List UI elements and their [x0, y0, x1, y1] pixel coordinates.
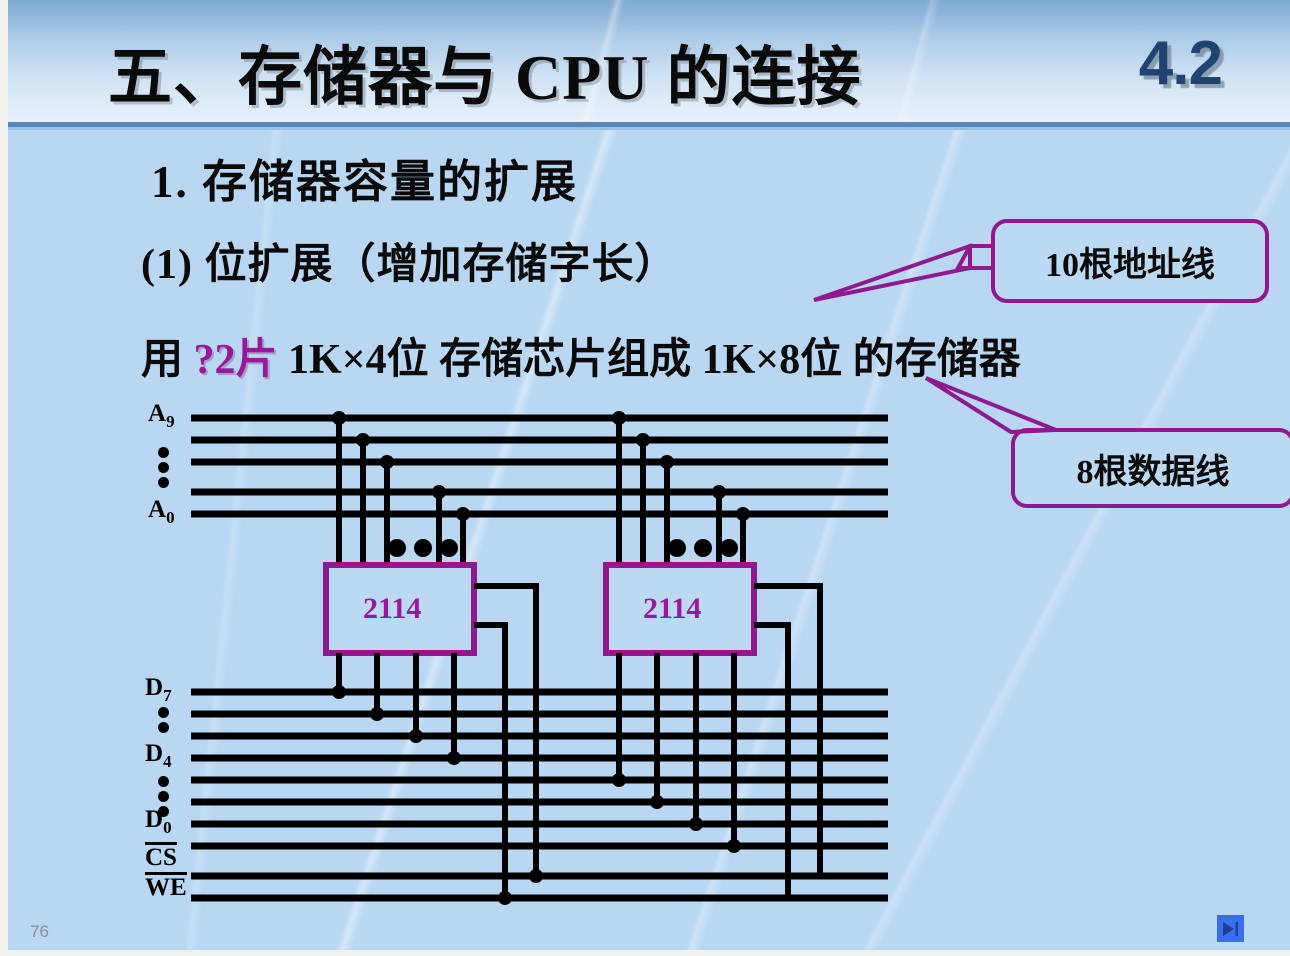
callout-address-lines: 10根地址线	[991, 219, 1269, 303]
callout-2-tail	[926, 378, 1056, 432]
chip-label-2: 2114	[643, 592, 701, 626]
slide-canvas: 五、存储器与 CPU 的连接 4.2 1. 存储器容量的扩展 (1) 位扩展（增…	[8, 0, 1290, 950]
statement-rest: 1K×4位 存储芯片组成 1K×8位 的存储器	[288, 337, 1021, 383]
statement-prefix: 用	[141, 337, 183, 383]
cs-junction-chip1	[529, 869, 543, 883]
header-rule-secondary	[8, 127, 1290, 130]
pin-label-we-text: WE	[145, 872, 187, 901]
pin-label-d4: D4	[145, 740, 172, 772]
data-ellipsis-upper	[158, 707, 169, 733]
we-junction-chip1	[498, 891, 512, 905]
addr-junctions-chip1	[332, 411, 470, 521]
control-wire-cs-chip2	[536, 586, 820, 876]
section-number: 4.2	[1139, 28, 1222, 99]
pin-label-a9: A9	[148, 400, 175, 432]
data-junctions-chip1	[332, 685, 461, 765]
control-wire-we-chip1	[474, 625, 505, 898]
pin-label-d7: D7	[145, 674, 172, 706]
chip-label-1: 2114	[363, 592, 421, 626]
callout-1-notch	[958, 246, 991, 268]
page-title: 五、存储器与 CPU 的连接	[108, 26, 862, 118]
addr-junctions-chip2	[612, 411, 750, 521]
callout-data-lines: 8根数据线	[1011, 428, 1290, 508]
statement-highlight: ?2片	[194, 337, 278, 383]
pin-label-cs-text: CS	[145, 842, 177, 871]
control-wire-we-chip2	[505, 625, 788, 898]
callout-1-tail	[814, 246, 970, 300]
addr-ellipsis-chip2	[668, 539, 738, 557]
next-slide-icon[interactable]	[1217, 915, 1244, 942]
callout-data-lines-label: 8根数据线	[1077, 444, 1230, 493]
pin-label-cs: CS	[145, 842, 177, 872]
pin-label-a0: A0	[148, 496, 175, 528]
data-junctions-chip2	[612, 773, 741, 853]
addr-ellipsis-chip1	[388, 539, 458, 557]
page-number: 76	[30, 922, 49, 942]
subheading-bit-expansion: (1) 位扩展（增加存储字长）	[141, 230, 677, 291]
statement-line: 用 ?2片 1K×4位 存储芯片组成 1K×8位 的存储器	[141, 325, 1021, 386]
pin-label-d0: D0	[145, 806, 172, 838]
control-wire-cs-chip1	[474, 586, 536, 876]
callout-address-lines-label: 10根地址线	[1045, 237, 1215, 286]
pin-label-we: WE	[145, 872, 187, 902]
heading-capacity-expansion: 1. 存储器容量的扩展	[151, 145, 578, 210]
address-ellipsis-label	[158, 447, 169, 488]
